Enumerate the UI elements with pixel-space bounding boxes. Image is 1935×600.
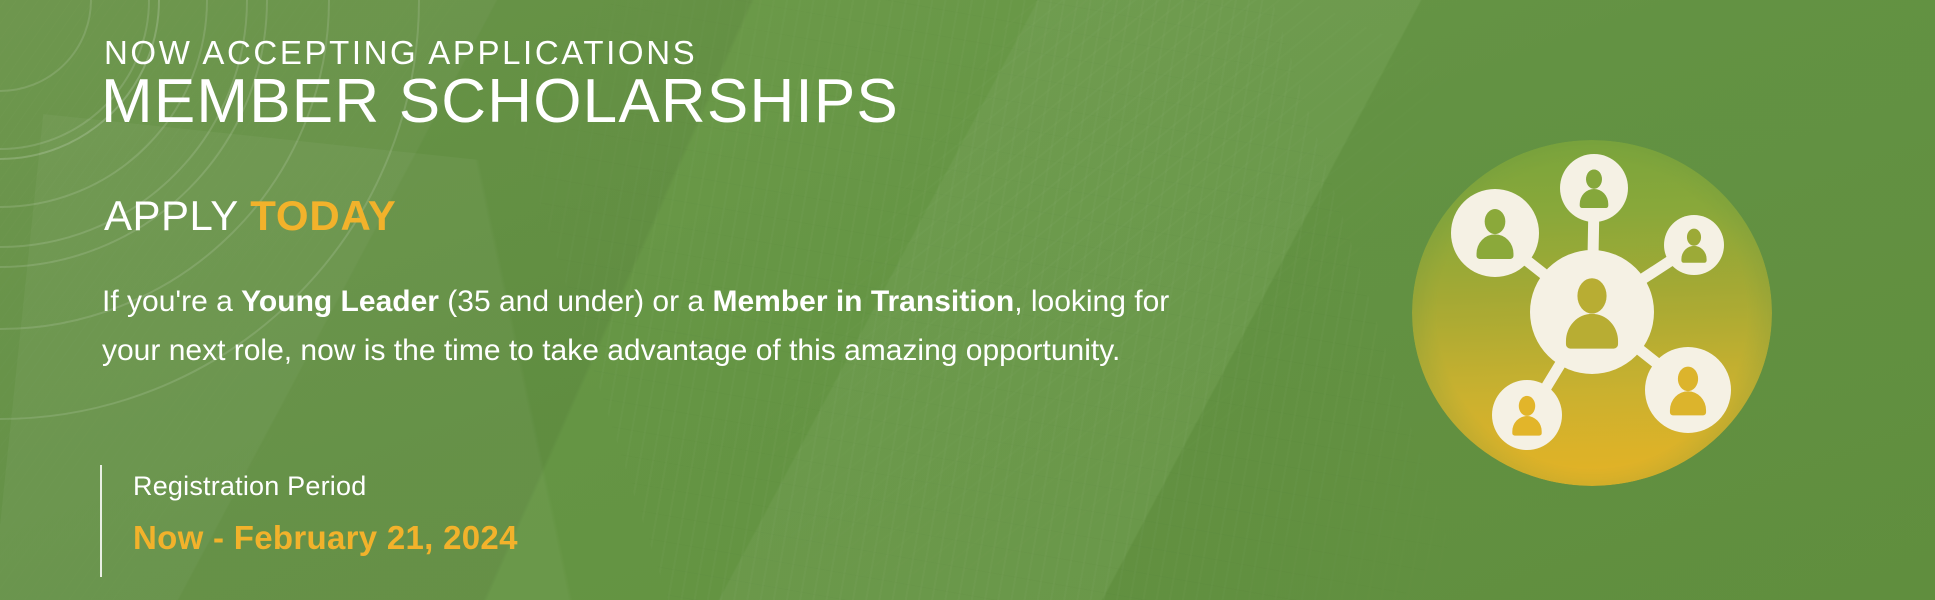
registration-period-dates: Now - February 21, 2024 <box>133 500 518 554</box>
apply-label: APPLY <box>104 192 238 239</box>
page-title: MEMBER SCHOLARSHIPS <box>101 68 899 136</box>
member-scholarships-banner: NOW ACCEPTING APPLICATIONS MEMBER SCHOLA… <box>0 0 1935 600</box>
banner-content: NOW ACCEPTING APPLICATIONS MEMBER SCHOLA… <box>0 0 1935 600</box>
registration-period-label: Registration Period <box>133 465 518 500</box>
banner-body-copy: If you're a Young Leader (35 and under) … <box>102 278 1192 375</box>
today-label: TODAY <box>250 192 396 239</box>
registration-period-block: Registration Period Now - February 21, 2… <box>100 465 518 577</box>
apply-call-to-action: APPLY TODAY <box>104 192 397 240</box>
